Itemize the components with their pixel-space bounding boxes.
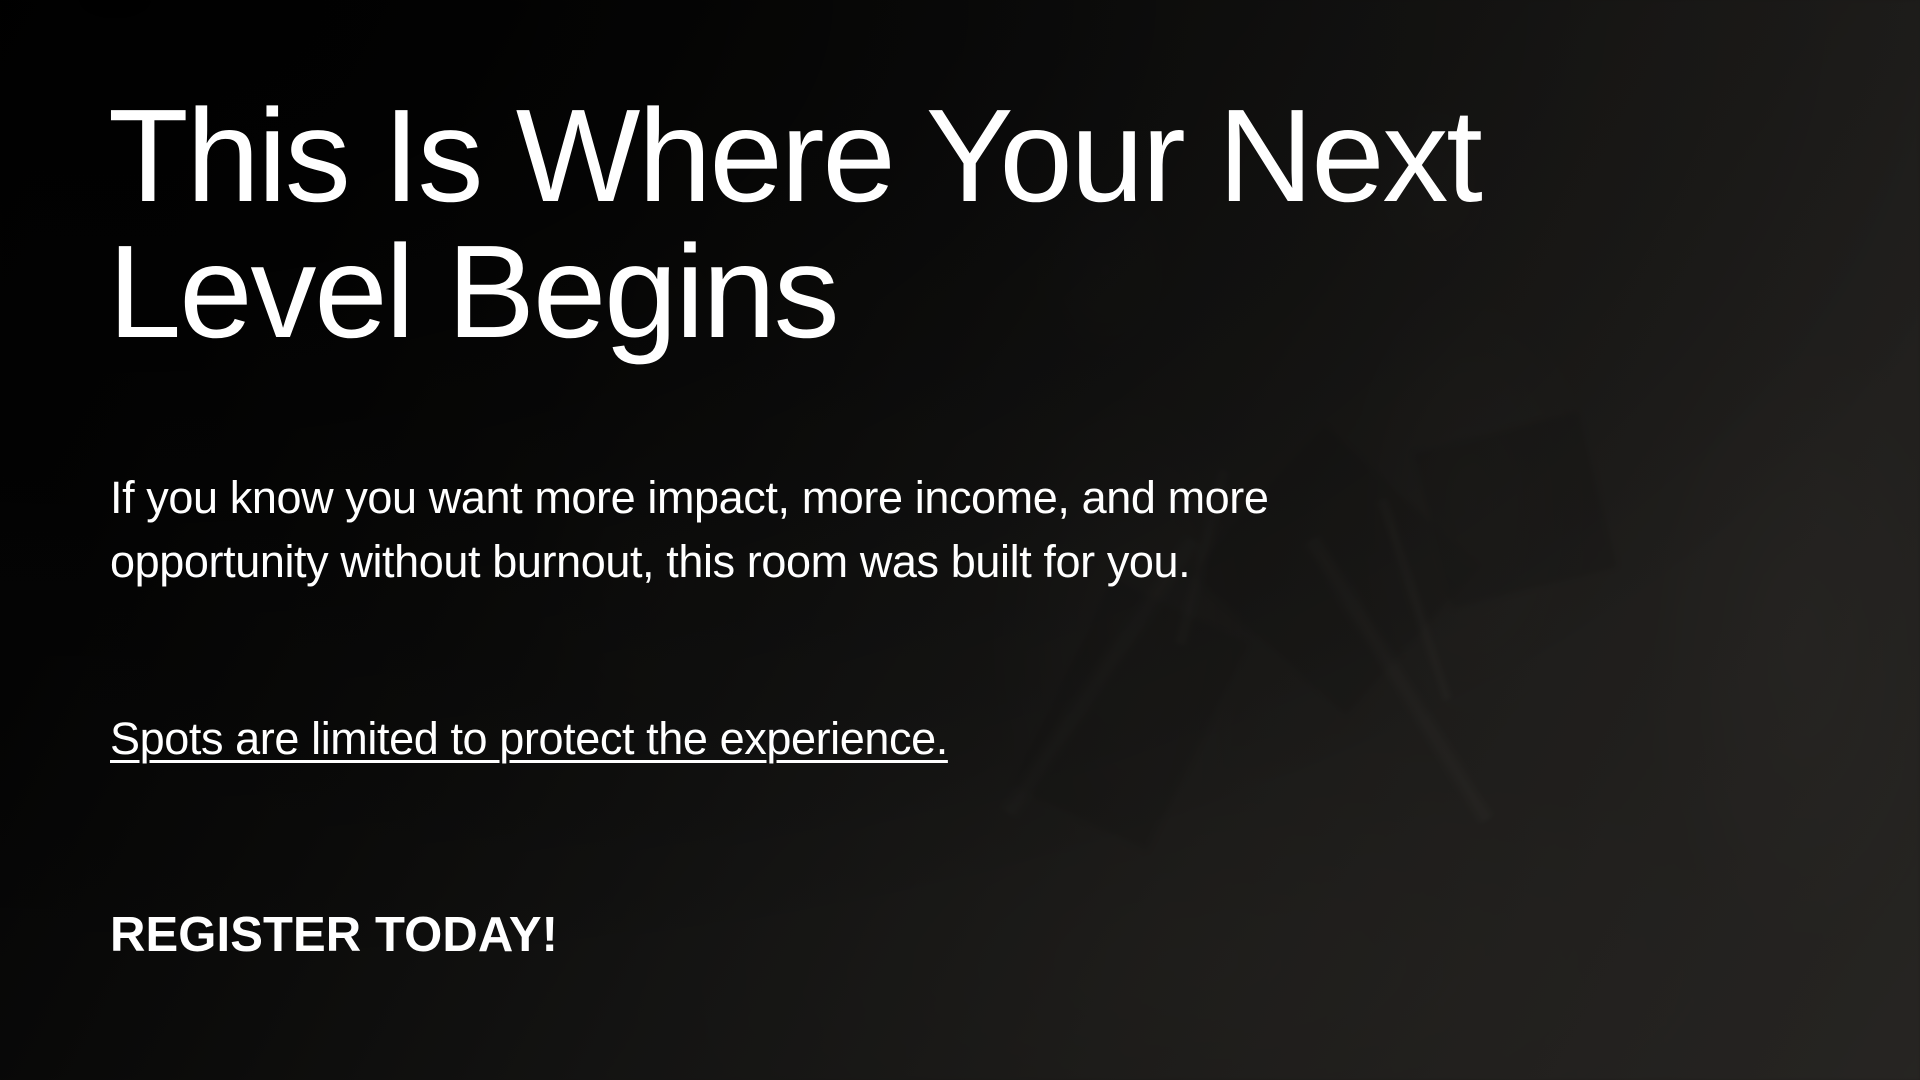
- hero-description: If you know you want more impact, more i…: [110, 466, 1375, 594]
- register-today-button[interactable]: REGISTER TODAY!: [110, 906, 558, 965]
- page-title: This Is Where Your Next Level Begins: [108, 88, 1668, 360]
- hero-content: This Is Where Your Next Level Begins If …: [108, 0, 1748, 1080]
- hero-section: This Is Where Your Next Level Begins If …: [0, 0, 1920, 1080]
- limited-spots-link[interactable]: Spots are limited to protect the experie…: [110, 710, 948, 769]
